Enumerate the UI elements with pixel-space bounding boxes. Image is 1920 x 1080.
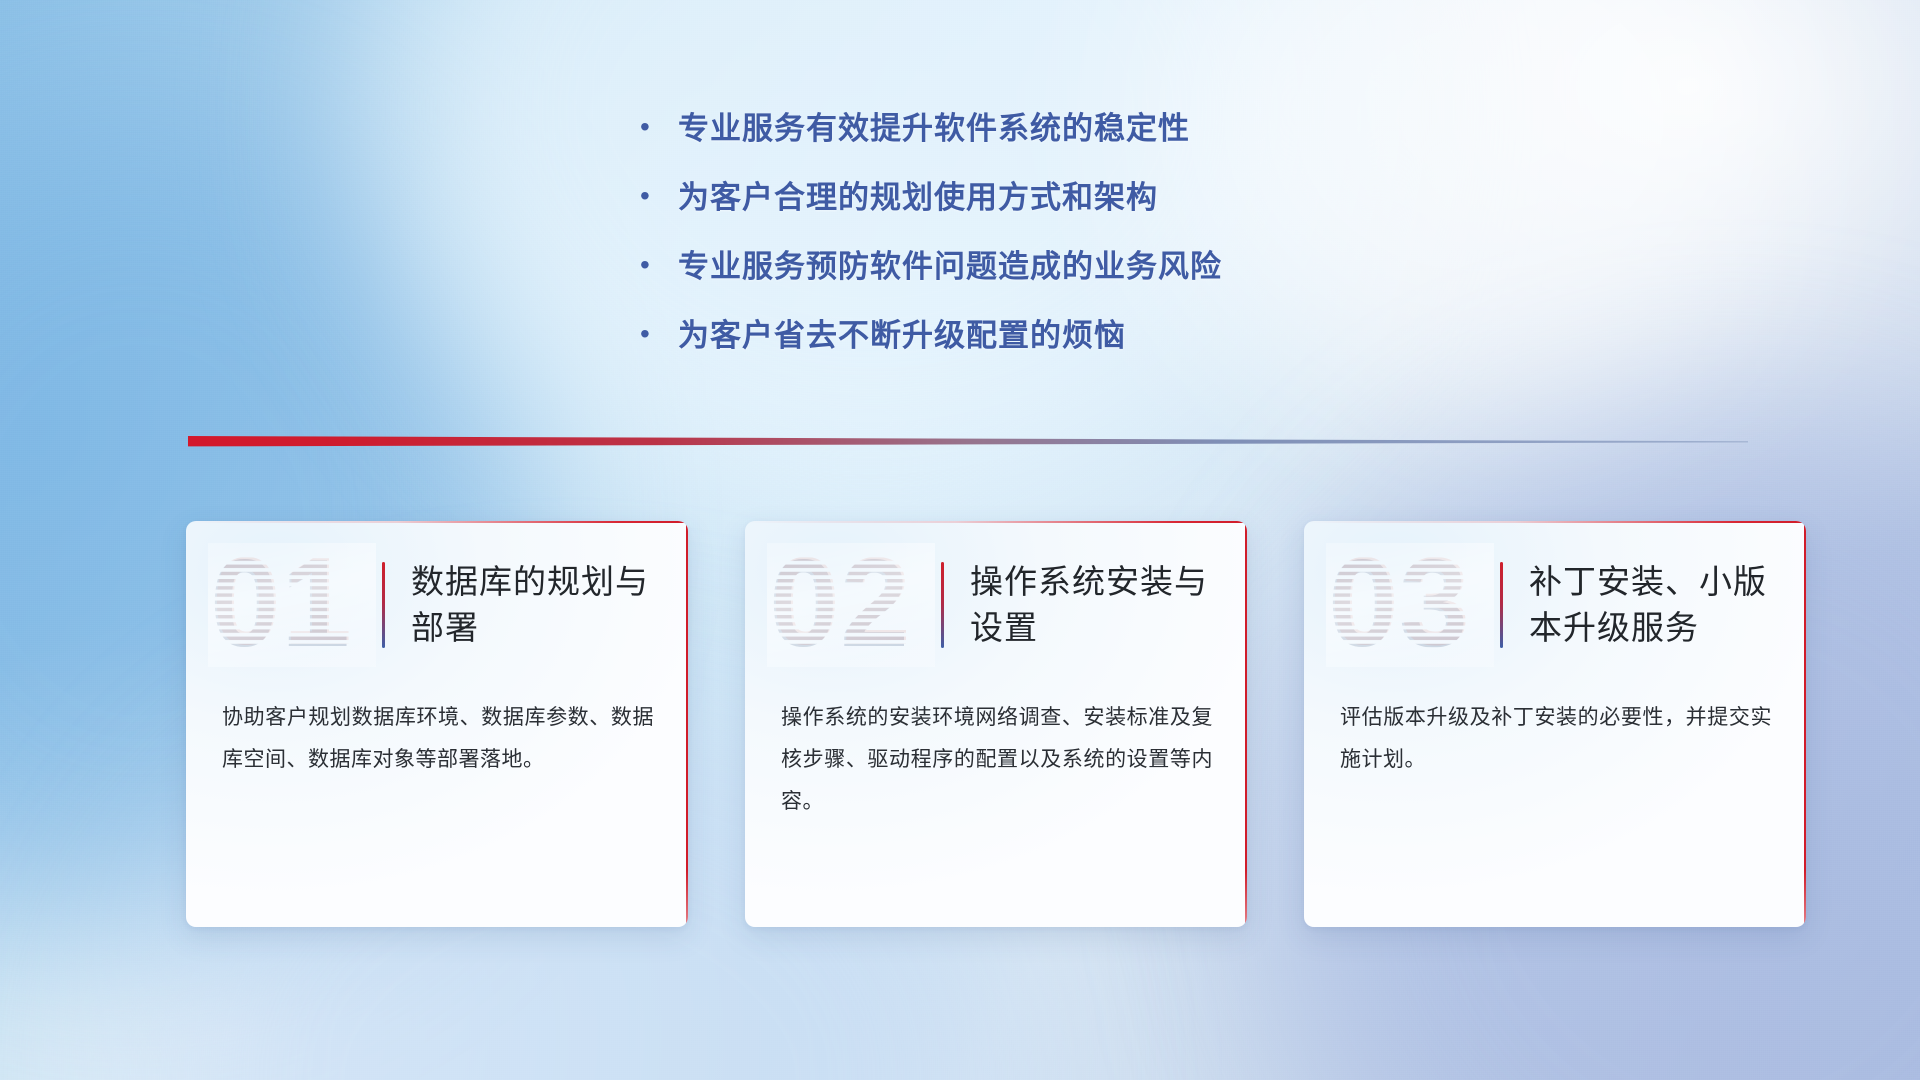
section-divider xyxy=(188,432,1748,452)
slide-canvas: • 专业服务有效提升软件系统的稳定性 • 为客户合理的规划使用方式和架构 • 专… xyxy=(0,0,1920,1080)
card-title-rule xyxy=(382,562,385,648)
card-title-rule xyxy=(1500,562,1503,648)
card-body-text: 操作系统的安装环境网络调查、安装标准及复核步骤、驱动程序的配置以及系统的设置等内… xyxy=(745,689,1247,823)
card-header: 02 02 操作系统安装与设置 xyxy=(745,521,1247,689)
card-number-01-striped-icon: 01 01 xyxy=(208,543,376,667)
card-body-text: 评估版本升级及补丁安装的必要性，并提交实施计划。 xyxy=(1304,689,1806,781)
bullet-dot-icon: • xyxy=(640,251,678,279)
card-title-rule xyxy=(941,562,944,648)
service-card-01[interactable]: 01 01 数据库的规划与部署 协助客户规划数据库环境、数据库参数、数据库空间、… xyxy=(186,521,688,927)
bullet-text: 为客户合理的规划使用方式和架构 xyxy=(678,177,1158,219)
list-item: • 为客户省去不断升级配置的烦恼 xyxy=(640,315,1460,357)
divider-shape-icon xyxy=(188,432,1748,452)
card-title: 数据库的规划与部署 xyxy=(411,559,661,650)
benefits-bullet-list: • 专业服务有效提升软件系统的稳定性 • 为客户合理的规划使用方式和架构 • 专… xyxy=(640,108,1460,383)
service-card-03[interactable]: 03 03 补丁安装、小版本升级服务 评估版本升级及补丁安装的必要性，并提交实施… xyxy=(1304,521,1806,927)
service-card-02[interactable]: 02 02 操作系统安装与设置 操作系统的安装环境网络调查、安装标准及复核步骤、… xyxy=(745,521,1247,927)
card-body-text: 协助客户规划数据库环境、数据库参数、数据库空间、数据库对象等部署落地。 xyxy=(186,689,688,781)
list-item: • 专业服务预防软件问题造成的业务风险 xyxy=(640,246,1460,288)
card-number-02-striped-icon: 02 02 xyxy=(767,543,935,667)
bullet-dot-icon: • xyxy=(640,182,678,210)
list-item: • 专业服务有效提升软件系统的稳定性 xyxy=(640,108,1460,150)
card-title: 补丁安装、小版本升级服务 xyxy=(1529,559,1779,650)
bullet-text: 为客户省去不断升级配置的烦恼 xyxy=(678,315,1126,357)
bullet-dot-icon: • xyxy=(640,320,678,348)
card-number-03-striped-icon: 03 03 xyxy=(1326,543,1494,667)
card-title: 操作系统安装与设置 xyxy=(970,559,1220,650)
bullet-text: 专业服务预防软件问题造成的业务风险 xyxy=(678,246,1222,288)
list-item: • 为客户合理的规划使用方式和架构 xyxy=(640,177,1460,219)
card-header: 03 03 补丁安装、小版本升级服务 xyxy=(1304,521,1806,689)
service-card-row: 01 01 数据库的规划与部署 协助客户规划数据库环境、数据库参数、数据库空间、… xyxy=(186,521,1806,927)
bullet-dot-icon: • xyxy=(640,113,678,141)
bullet-text: 专业服务有效提升软件系统的稳定性 xyxy=(678,108,1190,150)
card-header: 01 01 数据库的规划与部署 xyxy=(186,521,688,689)
